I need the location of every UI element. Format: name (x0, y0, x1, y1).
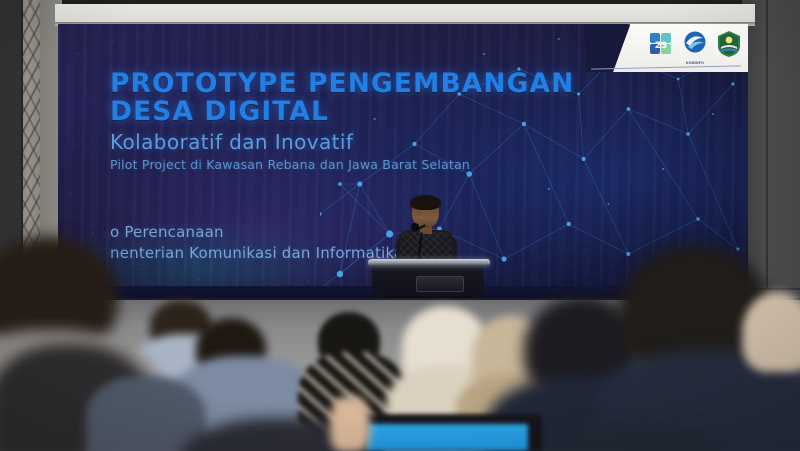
audience-hand (330, 396, 370, 451)
logo-kominfo-caption: KOMINFO (681, 61, 709, 65)
audience-shoulders (86, 376, 206, 451)
logo-kominfo-icon: KOMINFO (681, 30, 709, 58)
podium-monitor (416, 276, 464, 292)
logo-jawa-barat-icon (715, 30, 743, 58)
svg-text:23: 23 (655, 41, 668, 51)
logo-panel-diagonal-cut (585, 24, 630, 72)
podium-lit-top-edge (368, 259, 490, 266)
microphone-icon (411, 223, 419, 231)
audience-head-scarf (742, 292, 800, 372)
tablet-screen (366, 424, 528, 451)
banner-logo-panel: 23 KOMINFO (585, 24, 748, 72)
right-wall-seam-vertical (766, 0, 768, 290)
speaker-hair (410, 195, 441, 210)
logo-pemprov-jabar-digital-icon: 23 (647, 30, 675, 58)
screenshot-canvas: PROTOTYPE PENGEMBANGAN DESA DIGITAL Kola… (0, 0, 800, 451)
